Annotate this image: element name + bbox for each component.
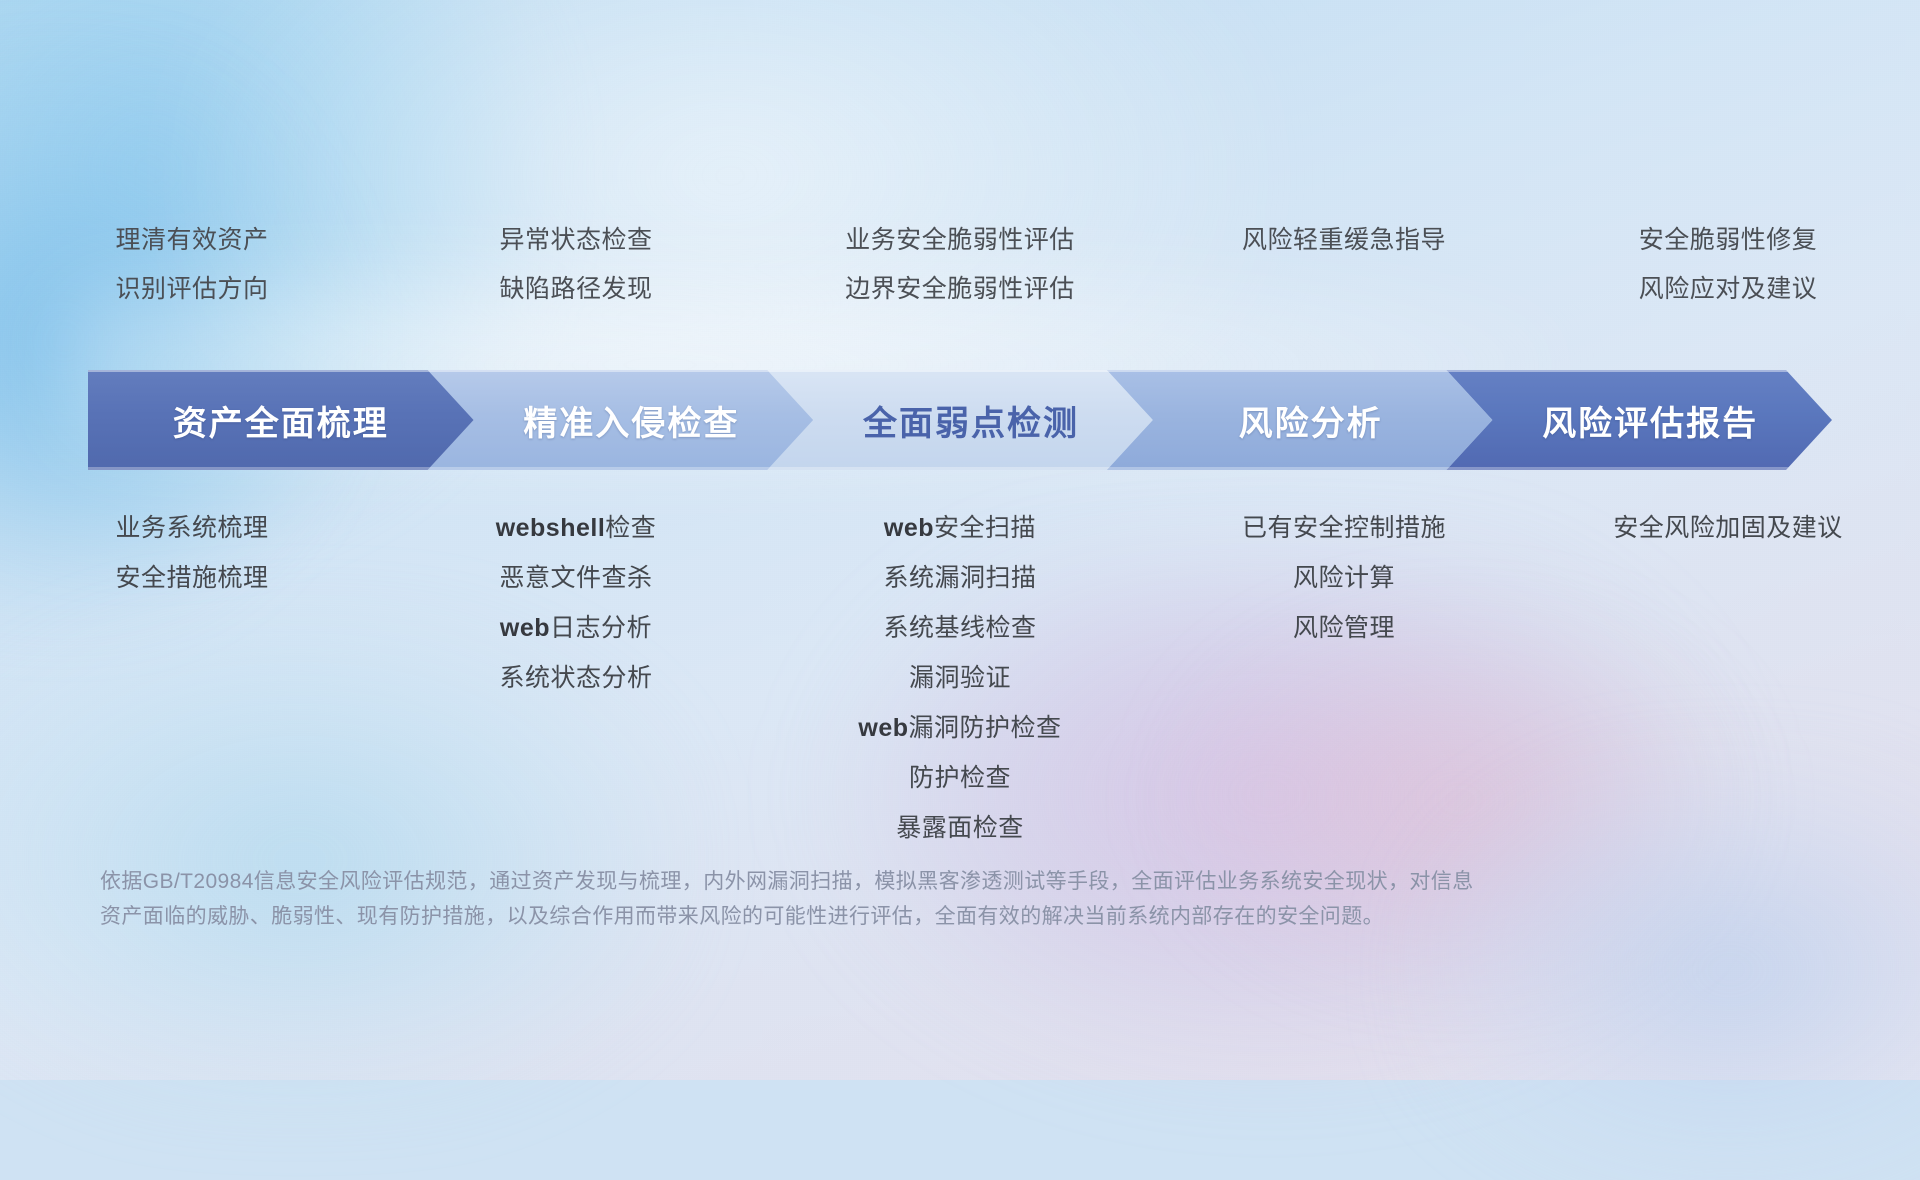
stage-item: 系统漏洞扫描 (883, 566, 1036, 591)
top-label: 风险轻重缓急指导 (1242, 228, 1446, 253)
stage-item: 业务系统梳理 (115, 516, 268, 541)
top-label: 风险应对及建议 (1639, 277, 1818, 302)
top-label-column-risk-report: 安全脆弱性修复风险应对及建议 (1536, 228, 1920, 326)
top-label: 边界安全脆弱性评估 (845, 277, 1075, 302)
stage-item: 安全措施梳理 (115, 566, 268, 591)
stage-item: 暴露面检查 (896, 816, 1024, 841)
stage-detail-row: 业务系统梳理安全措施梳理webshell检查恶意文件查杀web日志分析系统状态分… (0, 516, 1920, 866)
latin-term: web (500, 614, 550, 642)
stage-items-risk-analysis: 已有安全控制措施风险计算风险管理 (1152, 516, 1536, 666)
stage-item: 恶意文件查杀 (499, 566, 652, 591)
stage-item: 防护检查 (909, 766, 1011, 791)
stage-item: web安全扫描 (884, 516, 1036, 541)
top-label: 缺陷路径发现 (499, 277, 652, 302)
stage-item: webshell检查 (496, 516, 657, 541)
process-stage-risk-analysis[interactable]: 风险分析 (1107, 370, 1493, 470)
process-stage-risk-report[interactable]: 风险评估报告 (1446, 370, 1832, 470)
process-stage-weakness-detection[interactable]: 全面弱点检测 (767, 370, 1153, 470)
process-chevron-banner: 资产全面梳理精准入侵检查全面弱点检测风险分析风险评估报告 (88, 370, 1832, 470)
stage-label: 全面弱点检测 (863, 396, 1079, 445)
latin-term: web (884, 514, 934, 542)
stage-item: web日志分析 (500, 616, 652, 641)
stage-items-weakness-detection: web安全扫描系统漏洞扫描系统基线检查漏洞验证web漏洞防护检查防护检查暴露面检… (768, 516, 1152, 866)
top-label-column-risk-analysis: 风险轻重缓急指导 (1152, 228, 1536, 326)
stage-item: 风险管理 (1293, 616, 1395, 641)
footer-description: 依据GB/T20984信息安全风险评估规范，通过资产发现与梳理，内外网漏洞扫描，… (100, 865, 1580, 934)
top-label-column-asset-inventory: 理清有效资产识别评估方向 (0, 228, 384, 326)
top-label: 安全脆弱性修复 (1639, 228, 1818, 253)
stage-item: 已有安全控制措施 (1242, 516, 1446, 541)
stage-items-asset-inventory: 业务系统梳理安全措施梳理 (0, 516, 384, 616)
stage-label: 风险分析 (1239, 396, 1383, 445)
top-label: 理清有效资产 (115, 228, 268, 253)
top-label-column-intrusion-check: 异常状态检查缺陷路径发现 (384, 228, 768, 326)
stage-item: web漏洞防护检查 (858, 716, 1061, 741)
latin-term: web (858, 714, 908, 742)
top-label: 识别评估方向 (115, 277, 268, 302)
stage-item: 风险计算 (1293, 566, 1395, 591)
top-label-column-weakness-detection: 业务安全脆弱性评估边界安全脆弱性评估 (768, 228, 1152, 326)
process-diagram: 理清有效资产识别评估方向异常状态检查缺陷路径发现业务安全脆弱性评估边界安全脆弱性… (0, 0, 1920, 1080)
process-stage-intrusion-check[interactable]: 精准入侵检查 (428, 370, 814, 470)
process-stage-asset-inventory[interactable]: 资产全面梳理 (88, 370, 474, 470)
stage-label: 风险评估报告 (1542, 396, 1758, 445)
stage-items-intrusion-check: webshell检查恶意文件查杀web日志分析系统状态分析 (384, 516, 768, 716)
stage-item: 安全风险加固及建议 (1613, 516, 1843, 541)
stage-item: 漏洞验证 (909, 666, 1011, 691)
top-label: 异常状态检查 (499, 228, 652, 253)
stage-item: 系统基线检查 (883, 616, 1036, 641)
stage-label: 精准入侵检查 (523, 396, 739, 445)
top-label: 业务安全脆弱性评估 (845, 228, 1075, 253)
footer-line-1: 依据GB/T20984信息安全风险评估规范，通过资产发现与梳理，内外网漏洞扫描，… (100, 865, 1580, 900)
latin-term: webshell (496, 514, 606, 542)
footer-line-2: 资产面临的威胁、脆弱性、现有防护措施，以及综合作用而带来风险的可能性进行评估，全… (100, 900, 1580, 935)
stage-items-risk-report: 安全风险加固及建议 (1536, 516, 1920, 566)
stage-label: 资产全面梳理 (173, 396, 389, 445)
top-label-row: 理清有效资产识别评估方向异常状态检查缺陷路径发现业务安全脆弱性评估边界安全脆弱性… (0, 228, 1920, 326)
stage-item: 系统状态分析 (499, 666, 652, 691)
